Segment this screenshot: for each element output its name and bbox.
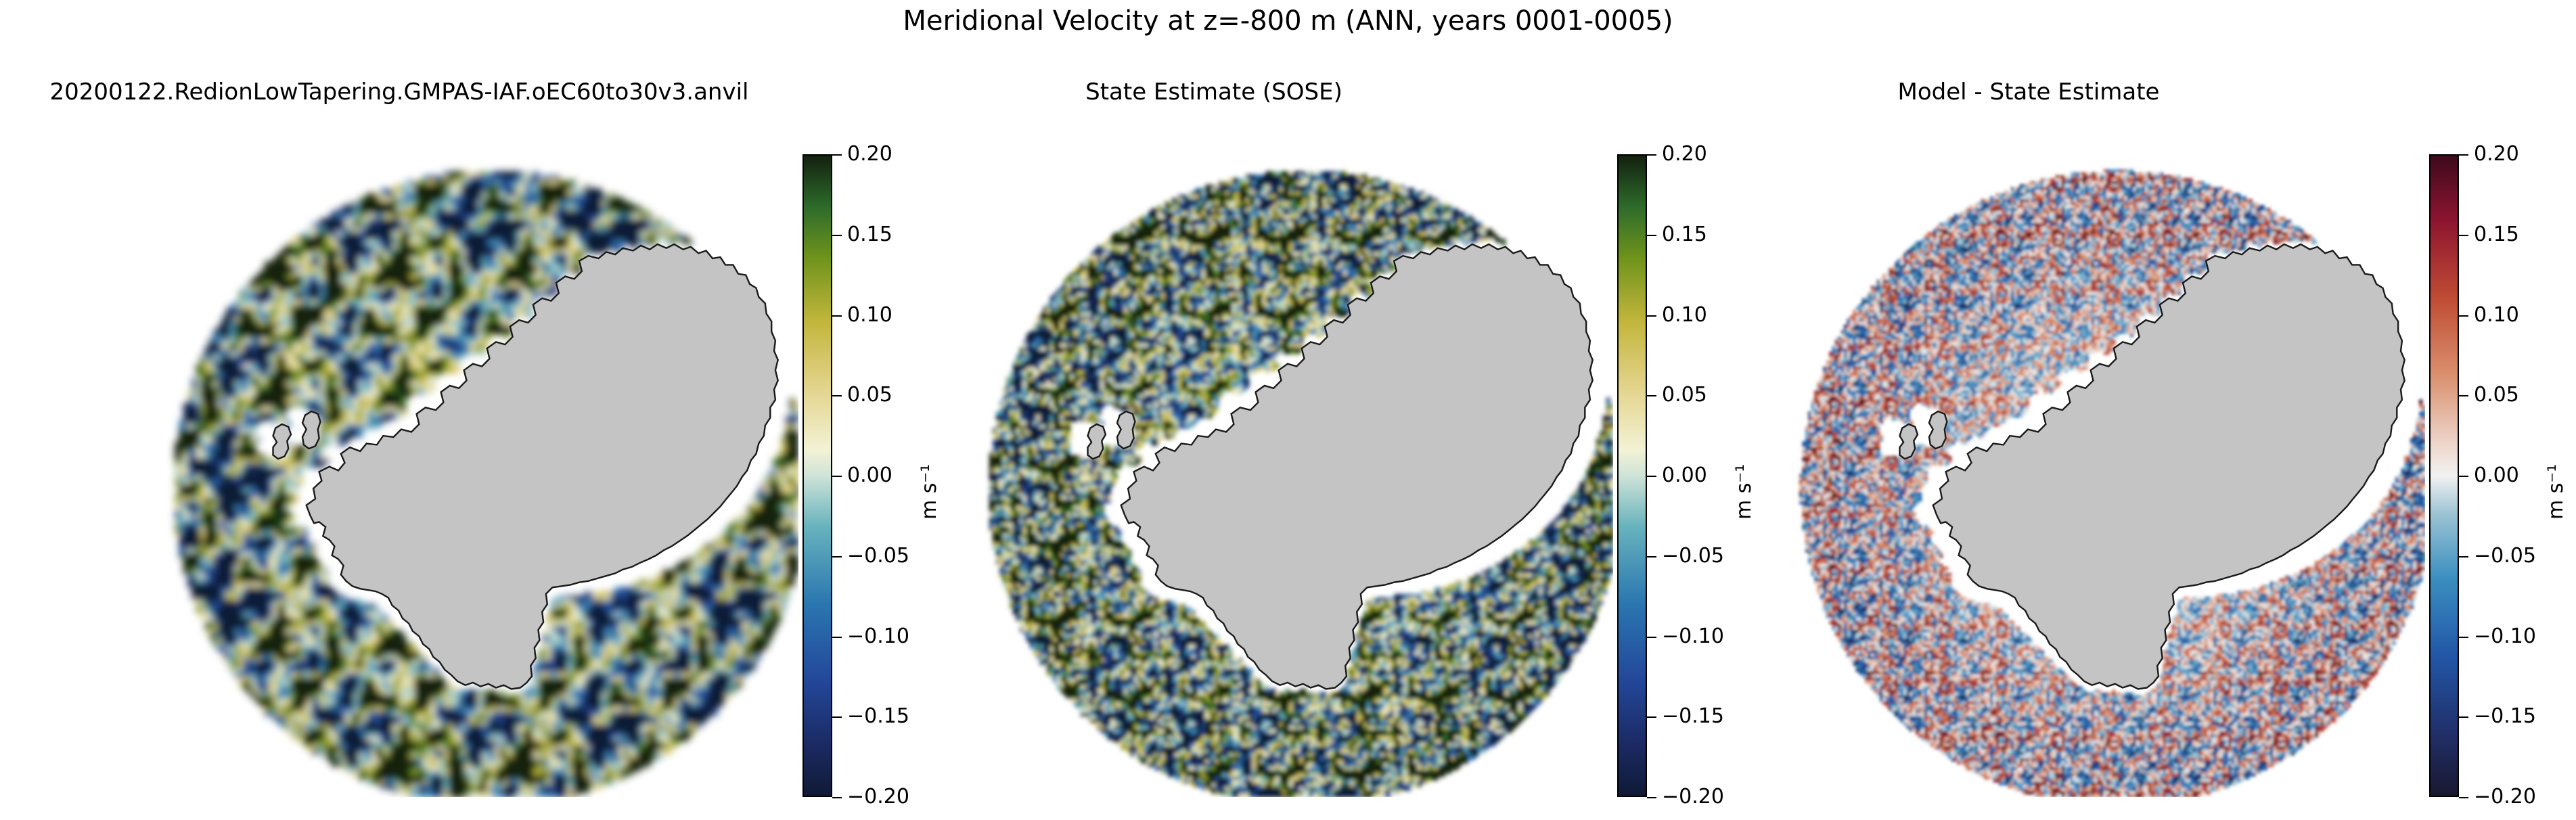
colorbar-tick-mark [2459,476,2468,477]
map-panel-difference[interactable] [1784,154,2425,797]
panel-title-difference: Model - State Estimate [1629,76,2428,108]
colorbar-tick-label: −0.05 [1662,546,1724,566]
colorbar-gradient-difference [2429,154,2459,797]
colorbar-tick-mark [1647,556,1656,557]
colorbar-tick-mark [1647,637,1656,638]
colorbar-tick-mark [832,476,842,477]
map-panel-obs[interactable] [972,154,1613,797]
colorbar-unit-difference: m s⁻¹ [2544,464,2568,520]
colorbar-tick-label: 0.05 [2474,385,2519,405]
colorbar-tick-mark [2459,637,2468,638]
colorbar-tick-mark [832,315,842,317]
colorbar-tick-mark [2459,315,2468,317]
colorbar-tick-label: 0.05 [1662,385,1707,405]
colorbar-ticks-model: 0.200.150.100.050.00−0.05−0.10−0.15−0.20 [832,154,981,797]
colorbar-tick-label: −0.10 [847,627,909,647]
colorbar-tick-label: 0.00 [1662,465,1707,486]
colorbar-tick-mark [832,235,842,236]
colorbar-tick-label: 0.00 [847,465,892,486]
colorbar-tick-mark [1647,154,1656,156]
colorbar-tick-label: −0.20 [847,787,909,807]
colorbar-tick-mark [1647,716,1656,718]
panel-title-obs: State Estimate (SOSE) [815,76,1613,108]
figure-title: Meridional Velocity at z=-800 m (ANN, ye… [0,5,2576,37]
colorbar-tick-label: 0.20 [847,144,892,164]
colorbar-tick-label: −0.05 [847,546,909,566]
colorbar-tick-label: 0.20 [2474,144,2519,164]
colorbar-tick-mark [2459,797,2468,798]
colorbar-tick-label: 0.20 [1662,144,1707,164]
colorbar-unit-model: m s⁻¹ [918,464,941,520]
colorbar-tick-mark [832,154,842,156]
colorbar-tick-mark [832,797,842,798]
colorbar-tick-mark [832,395,842,396]
colorbar-gradient-model [803,154,832,797]
colorbar-tick-mark [2459,556,2468,557]
colorbar-tick-mark [2459,235,2468,236]
colorbar-tick-label: −0.10 [1662,627,1724,647]
colorbar-ticks-obs: 0.200.150.100.050.00−0.05−0.10−0.15−0.20 [1647,154,1796,797]
colorbar-tick-label: −0.20 [2474,787,2536,807]
colorbar-tick-mark [832,556,842,557]
colorbar-tick-label: 0.10 [1662,305,1707,325]
colorbar-tick-mark [1647,235,1656,236]
colorbar-tick-label: 0.15 [847,225,892,245]
panel-title-model: 20200122.RedionLowTapering.GMPAS-IAF.oEC… [0,76,798,108]
colorbar-tick-mark [832,716,842,718]
colorbar-tick-label: −0.15 [2474,706,2536,727]
colorbar-tick-mark [2459,395,2468,396]
colorbar-tick-mark [2459,716,2468,718]
colorbar-tick-label: −0.05 [2474,546,2536,566]
colorbar-unit-obs: m s⁻¹ [1732,464,1756,520]
figure-canvas: Meridional Velocity at z=-800 m (ANN, ye… [0,0,2576,820]
colorbar-tick-label: −0.15 [1662,706,1724,727]
colorbar-tick-label: −0.15 [847,706,909,727]
colorbar-tick-label: 0.10 [2474,305,2519,325]
colorbar-tick-mark [1647,476,1656,477]
colorbar-tick-label: −0.20 [1662,787,1724,807]
colorbar-gradient-obs [1617,154,1647,797]
colorbar-tick-label: 0.10 [847,305,892,325]
colorbar-tick-label: 0.15 [2474,225,2519,245]
map-panel-model[interactable] [158,154,798,797]
colorbar-tick-mark [832,637,842,638]
colorbar-tick-mark [1647,315,1656,317]
colorbar-tick-mark [2459,154,2468,156]
colorbar-tick-mark [1647,395,1656,396]
colorbar-tick-label: 0.00 [2474,465,2519,486]
colorbar-tick-label: 0.05 [847,385,892,405]
colorbar-tick-label: −0.10 [2474,627,2536,647]
colorbar-tick-mark [1647,797,1656,798]
colorbar-tick-label: 0.15 [1662,225,1707,245]
